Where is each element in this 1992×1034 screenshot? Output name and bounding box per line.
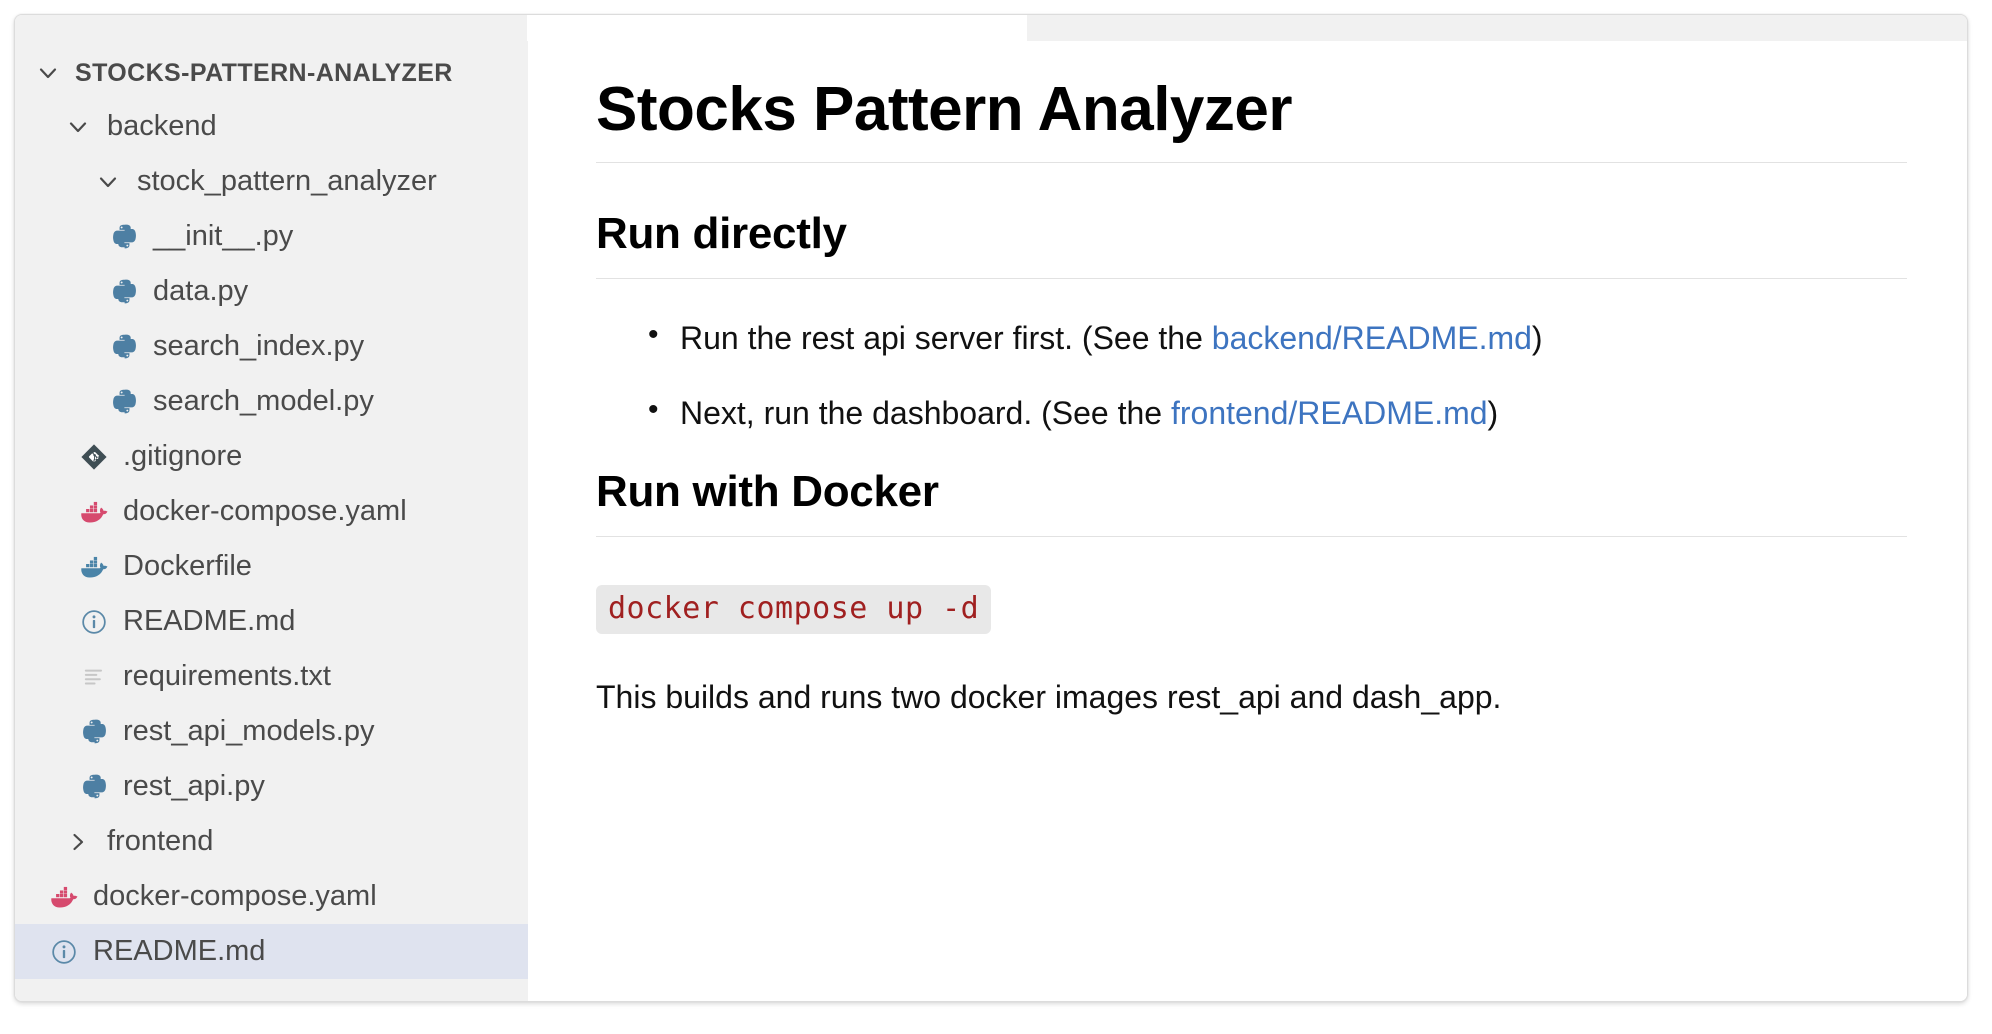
markdown-preview: Stocks Pattern Analyzer Run directly Run… bbox=[528, 41, 1967, 1001]
text-lines-icon bbox=[77, 660, 111, 694]
sidebar-item-label: README.md bbox=[123, 605, 295, 638]
python-icon bbox=[77, 770, 111, 804]
docker-icon bbox=[47, 880, 81, 914]
tab-active-readme[interactable] bbox=[527, 15, 1027, 41]
sidebar-item-label: Dockerfile bbox=[123, 550, 252, 583]
page-title: Stocks Pattern Analyzer bbox=[596, 75, 1907, 144]
sidebar-item-label: rest_api.py bbox=[123, 770, 265, 803]
python-icon bbox=[77, 715, 111, 749]
sidebar-item-label: requirements.txt bbox=[123, 660, 331, 693]
chevron-down-icon[interactable] bbox=[31, 56, 65, 90]
sidebar-item-readme-md-root[interactable]: README.md bbox=[15, 924, 528, 979]
sidebar-item-rest-api-py[interactable]: rest_api.py bbox=[15, 759, 528, 814]
tab-strip-left-pad bbox=[15, 15, 527, 41]
sidebar-item-readme-md-backend[interactable]: README.md bbox=[15, 594, 528, 649]
sidebar-item-label: docker-compose.yaml bbox=[93, 880, 377, 913]
heading-run-directly-divider bbox=[596, 278, 1907, 279]
sidebar-item-label: README.md bbox=[93, 935, 265, 968]
sidebar-item-requirements-txt[interactable]: requirements.txt bbox=[15, 649, 528, 704]
paragraph-docker-description: This builds and runs two docker images r… bbox=[596, 676, 1907, 719]
code-snippet-docker-compose: docker compose up -d bbox=[596, 585, 991, 634]
chevron-down-icon[interactable] bbox=[61, 110, 95, 144]
list-item: Run the rest api server first. (See the … bbox=[680, 317, 1907, 360]
link-backend-readme[interactable]: backend/README.md bbox=[1212, 320, 1532, 356]
tab-strip bbox=[15, 15, 1967, 41]
info-icon bbox=[47, 935, 81, 969]
app-window: STOCKS-PATTERN-ANALYZER backend stock_pa… bbox=[14, 14, 1968, 1002]
sidebar-item-stock-pattern-analyzer[interactable]: stock_pattern_analyzer bbox=[15, 154, 528, 209]
python-icon bbox=[107, 385, 141, 419]
sidebar-item-label: search_model.py bbox=[153, 385, 374, 418]
heading-run-directly: Run directly bbox=[596, 209, 1907, 260]
sidebar-item-search-model-py[interactable]: search_model.py bbox=[15, 374, 528, 429]
docker-icon bbox=[77, 550, 111, 584]
sidebar-item-label: frontend bbox=[107, 825, 213, 858]
sidebar-item-label: stock_pattern_analyzer bbox=[137, 165, 437, 198]
body-split: STOCKS-PATTERN-ANALYZER backend stock_pa… bbox=[15, 41, 1967, 1001]
list-item: Next, run the dashboard. (See the fronte… bbox=[680, 392, 1907, 435]
sidebar-item-label: __init__.py bbox=[153, 220, 293, 253]
list-item-text-after: ) bbox=[1532, 320, 1543, 356]
sidebar-item-rest-api-models-py[interactable]: rest_api_models.py bbox=[15, 704, 528, 759]
sidebar-item-label: backend bbox=[107, 110, 217, 143]
sidebar-root-stocks-pattern-analyzer[interactable]: STOCKS-PATTERN-ANALYZER bbox=[15, 47, 528, 99]
list-item-text-before: Next, run the dashboard. (See the bbox=[680, 395, 1171, 431]
sidebar-item-dockerfile[interactable]: Dockerfile bbox=[15, 539, 528, 594]
sidebar-item-label: search_index.py bbox=[153, 330, 364, 363]
sidebar-root-label: STOCKS-PATTERN-ANALYZER bbox=[75, 59, 453, 88]
sidebar-item-docker-compose-yaml-backend[interactable]: docker-compose.yaml bbox=[15, 484, 528, 539]
python-icon bbox=[107, 220, 141, 254]
sidebar-item-docker-compose-yaml-root[interactable]: docker-compose.yaml bbox=[15, 869, 528, 924]
sidebar-item-init-py[interactable]: __init__.py bbox=[15, 209, 528, 264]
list-item-text-before: Run the rest api server first. (See the bbox=[680, 320, 1212, 356]
chevron-down-icon[interactable] bbox=[91, 165, 125, 199]
docker-icon bbox=[77, 495, 111, 529]
sidebar-item-backend[interactable]: backend bbox=[15, 99, 528, 154]
sidebar-item-gitignore[interactable]: .gitignore bbox=[15, 429, 528, 484]
link-frontend-readme[interactable]: frontend/README.md bbox=[1171, 395, 1488, 431]
python-icon bbox=[107, 330, 141, 364]
sidebar-item-label: docker-compose.yaml bbox=[123, 495, 407, 528]
file-explorer-sidebar[interactable]: STOCKS-PATTERN-ANALYZER backend stock_pa… bbox=[15, 41, 528, 1001]
list-item-text-after: ) bbox=[1488, 395, 1499, 431]
git-icon bbox=[77, 440, 111, 474]
heading-run-with-docker: Run with Docker bbox=[596, 467, 1907, 518]
sidebar-item-search-index-py[interactable]: search_index.py bbox=[15, 319, 528, 374]
info-icon bbox=[77, 605, 111, 639]
sidebar-item-label: data.py bbox=[153, 275, 248, 308]
sidebar-item-label: rest_api_models.py bbox=[123, 715, 374, 748]
tab-strip-remainder bbox=[1027, 15, 1967, 41]
chevron-right-icon[interactable] bbox=[61, 825, 95, 859]
sidebar-item-label: .gitignore bbox=[123, 440, 242, 473]
run-directly-list: Run the rest api server first. (See the … bbox=[596, 317, 1907, 435]
sidebar-item-data-py[interactable]: data.py bbox=[15, 264, 528, 319]
sidebar-item-frontend[interactable]: frontend bbox=[15, 814, 528, 869]
python-icon bbox=[107, 275, 141, 309]
